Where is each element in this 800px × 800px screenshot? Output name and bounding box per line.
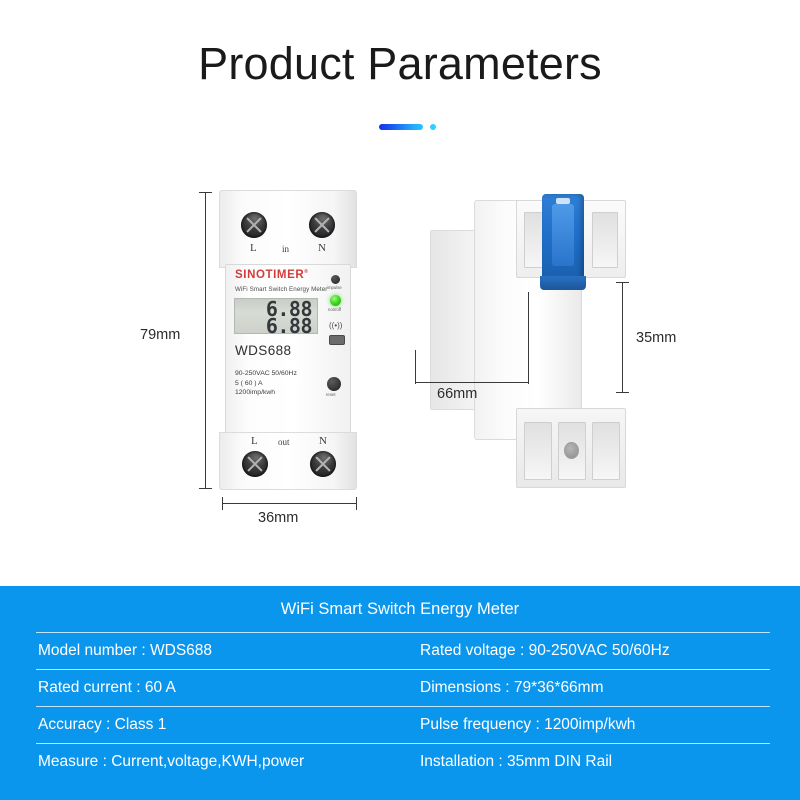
trademark-icon: ® (304, 269, 308, 275)
front-top-housing (219, 190, 357, 268)
product-diagram: L in N SINOTIMER® WiFi Smart Switch Ener… (0, 170, 800, 570)
lcd-value-bottom: 6.88 (266, 318, 312, 334)
title-divider-dot (430, 124, 436, 130)
side-bottom-slot-left (524, 422, 552, 480)
spec-table-header: WiFi Smart Switch Energy Meter (0, 586, 800, 632)
spec-cell-measure: Measure : Current,voltage,KWH,power (36, 753, 418, 771)
table-row: Rated current : 60 A Dimensions : 79*36*… (36, 669, 770, 706)
table-row: Measure : Current,voltage,KWH,power Inst… (36, 743, 770, 780)
dim-label-depth: 66mm (437, 386, 477, 402)
spec-cell-pulse-frequency: Pulse frequency : 1200imp/kwh (418, 716, 770, 734)
side-top-slot-right (592, 212, 618, 268)
wifi-icon: ((•)) (329, 321, 342, 330)
din-rail-clip-notch (556, 198, 570, 204)
dim-line-rail (622, 282, 623, 392)
page-title: Product Parameters (0, 38, 800, 90)
impulse-indicator-icon (331, 275, 340, 284)
product-front-view: L in N SINOTIMER® WiFi Smart Switch Ener… (219, 190, 357, 490)
reset-button[interactable] (327, 377, 341, 391)
power-led-icon (330, 295, 341, 306)
specification-table: WiFi Smart Switch Energy Meter Model num… (0, 586, 800, 800)
front-spec-line-1: 90-250VAC 50/60Hz (235, 369, 297, 379)
terminal-label-bottom-left: L (251, 435, 258, 447)
spec-cell-rated-current: Rated current : 60 A (36, 679, 418, 697)
front-spec-lines: 90-250VAC 50/60Hz 5 ( 60 ) A 1200imp/kwh (235, 369, 297, 398)
spec-cell-model: Model number : WDS688 (36, 642, 418, 660)
reset-button-label: reset (326, 392, 336, 397)
dim-line-depth (415, 382, 529, 383)
dim-line-height (205, 192, 206, 488)
terminal-label-top-right: N (318, 242, 326, 254)
table-row: Accuracy : Class 1 Pulse frequency : 120… (36, 706, 770, 743)
terminal-screw-bottom-right (305, 446, 342, 483)
din-rail-clip-inner (552, 204, 574, 266)
dim-tick-depth-right (528, 292, 529, 384)
title-divider-bar (379, 124, 423, 130)
dim-cap-width-left (222, 497, 223, 510)
dim-cap-height-top (199, 192, 212, 193)
dim-cap-rail-bottom (616, 392, 629, 393)
product-side-view (430, 190, 630, 490)
badge-icon (329, 335, 345, 345)
power-led-label: non/off (328, 307, 341, 312)
spec-cell-accuracy: Accuracy : Class 1 (36, 716, 418, 734)
front-spec-line-2: 5 ( 60 ) A (235, 379, 297, 389)
indicator-cluster: impulse non/off ((•)) (326, 273, 350, 369)
side-bottom-slot-right (592, 422, 620, 480)
terminal-screw-bottom-left (237, 446, 274, 483)
dim-label-height: 79mm (140, 327, 180, 343)
table-row: Model number : WDS688 Rated voltage : 90… (36, 632, 770, 669)
front-bottom-housing: L out N (219, 432, 357, 490)
spec-cell-installation: Installation : 35mm DIN Rail (418, 753, 770, 771)
front-face-plate: SINOTIMER® WiFi Smart Switch Energy Mete… (225, 264, 351, 436)
spec-table-grid: Model number : WDS688 Rated voltage : 90… (36, 632, 770, 780)
terminal-label-bottom-middle: out (278, 437, 290, 447)
dim-label-width: 36mm (258, 510, 298, 526)
mounting-hole (564, 442, 579, 459)
dim-tick-depth-left (415, 350, 416, 384)
spec-cell-dimensions: Dimensions : 79*36*66mm (418, 679, 770, 697)
dim-cap-width-right (356, 497, 357, 510)
brand-logo: SINOTIMER® (235, 269, 309, 281)
front-spec-line-3: 1200imp/kwh (235, 388, 297, 398)
dim-cap-rail-top (616, 282, 629, 283)
lcd-digits: 6.88 6.88 (266, 301, 312, 334)
dim-label-rail: 35mm (636, 330, 676, 346)
terminal-label-bottom-right: N (319, 435, 327, 447)
din-rail-clip-tail (540, 276, 586, 290)
terminal-label-top-left: L (250, 242, 257, 254)
dim-line-width (222, 503, 356, 504)
front-subtitle: WiFi Smart Switch Energy Meter (235, 286, 327, 293)
brand-logo-text: SINOTIMER (235, 269, 304, 281)
side-rear-housing (430, 230, 476, 410)
model-number-label: WDS688 (235, 343, 291, 358)
terminal-label-top-middle: in (282, 244, 289, 254)
dim-cap-height-bottom (199, 488, 212, 489)
impulse-indicator-label: impulse (327, 285, 342, 290)
lcd-display: 6.88 6.88 (234, 298, 318, 334)
spec-cell-rated-voltage: Rated voltage : 90-250VAC 50/60Hz (418, 642, 770, 660)
